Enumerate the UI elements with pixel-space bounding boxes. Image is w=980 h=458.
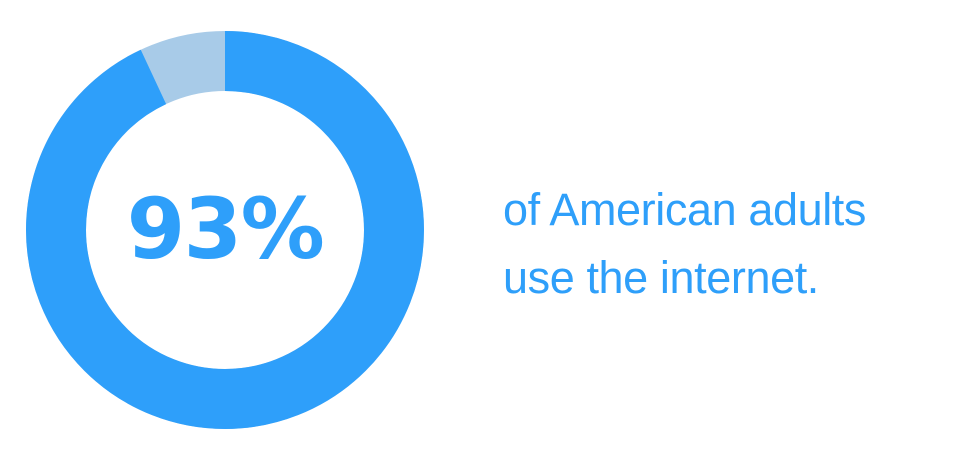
donut-chart: 93%	[26, 31, 424, 429]
internet-usage-infographic: 93% of American adults use the internet.	[0, 0, 980, 458]
donut-chart-svg	[26, 31, 424, 429]
donut-segment-internet-users	[56, 61, 394, 399]
caption-line-2: use the internet.	[503, 244, 963, 312]
caption-text: of American adults use the internet.	[503, 176, 963, 312]
caption-line-1: of American adults	[503, 176, 963, 244]
